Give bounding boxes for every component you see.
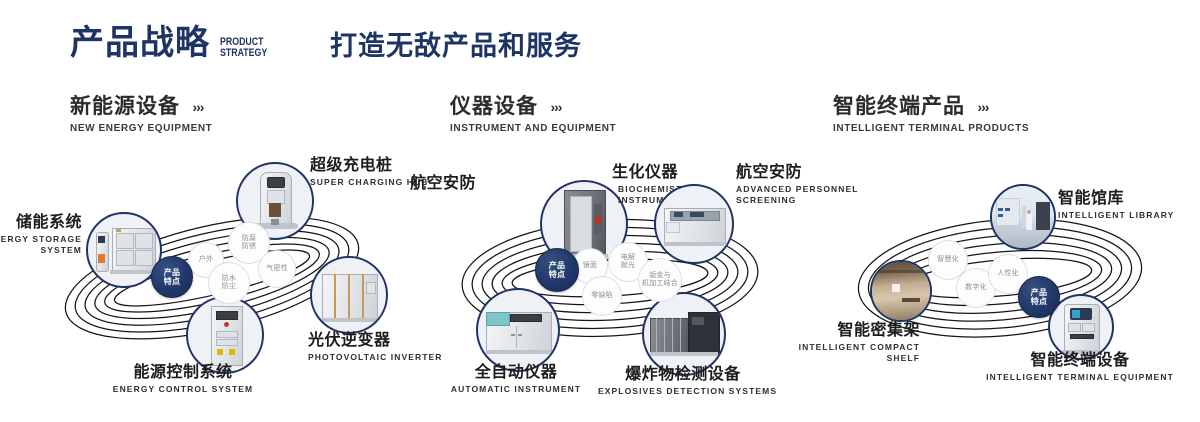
caption-cn-intelligent-library: 智能馆库 — [1058, 190, 1174, 207]
caption-intelligent-compact-shelf: 智能密集架 INTELLIGENT COMPACT SHELF — [742, 322, 920, 364]
diagram-cluster-new-energy: 超级充电桩 SUPER CHARGING HUB 储能系统 ENERGY STO… — [0, 150, 420, 400]
node-intelligent-compact-shelf[interactable] — [870, 260, 932, 322]
masthead: 产品战略 PRODUCT STRATEGY — [70, 26, 279, 60]
section-title-en-instrument: INSTRUMENT AND EQUIPMENT — [450, 123, 616, 134]
intelligent-terminal-equipment-image — [1050, 296, 1112, 358]
diagram-cluster-intelligent-terminal: 智能馆库 INTELLIGENT LIBRARY 智能密集架 INTELLIGE… — [800, 150, 1200, 400]
caption-en-automatic-instrument: AUTOMATIC INSTRUMENT — [436, 384, 596, 395]
feature-label-outdoor: 户外 — [199, 256, 213, 265]
feature-label-intelligentization: 智慧化 — [937, 256, 959, 265]
automatic-instrument-image — [478, 290, 558, 370]
badge-product-features-instrument: 产品 特点 — [535, 248, 579, 292]
caption-en-energy-storage-system-line1: ENERGY STORAGE — [0, 234, 82, 245]
chevron-right-icon-new-energy: ››› — [192, 99, 203, 115]
feature-label-electropolishing-line1: 电解 — [621, 254, 635, 263]
advanced-personnel-screening-image — [656, 186, 732, 262]
section-title-en-intelligent-terminal: INTELLIGENT TERMINAL PRODUCTS — [833, 123, 1029, 134]
caption-cn-explosives-detection-systems: 爆炸物检测设备 — [598, 366, 768, 383]
masthead-title-en: PRODUCT STRATEGY — [220, 37, 267, 59]
poster-canvas: 产品战略 PRODUCT STRATEGY 打造无敌产品和服务 新能源设备 ››… — [0, 0, 1200, 422]
photovoltaic-inverter-image — [312, 258, 386, 332]
caption-cn-biochemistry-instrument: 生化仪器 — [612, 164, 696, 181]
caption-intelligent-library: 智能馆库 INTELLIGENT LIBRARY — [1058, 190, 1174, 221]
feature-label-sheetmetal-machining-line1: 钣金与 — [649, 272, 671, 281]
chevron-right-icon-instrument: ››› — [550, 99, 561, 115]
caption-explosives-detection-systems: 爆炸物检测设备 EXPLOSIVES DETECTION SYSTEMS — [598, 366, 768, 397]
section-header-instrument: 仪器设备 ››› INSTRUMENT AND EQUIPMENT — [450, 96, 616, 134]
section-header-intelligent-terminal: 智能终端产品 ››› INTELLIGENT TERMINAL PRODUCTS — [833, 96, 1029, 134]
energy-storage-system-image — [88, 214, 160, 286]
chevron-right-icon-intelligent-terminal: ››› — [977, 99, 988, 115]
feature-bubble-waterproof: 防水 防尘 — [208, 262, 250, 304]
node-intelligent-library[interactable] — [990, 184, 1056, 250]
badge-line1-new-energy: 产品 — [164, 268, 181, 278]
node-photovoltaic-inverter[interactable] — [310, 256, 388, 334]
intelligent-compact-shelf-image — [872, 262, 930, 320]
node-advanced-personnel-screening[interactable] — [654, 184, 734, 264]
feature-label-humanization: 人性化 — [997, 270, 1019, 279]
caption-cn-energy-storage-system: 储能系统 — [0, 214, 82, 231]
feature-label-airtightness: 气密性 — [266, 265, 288, 274]
badge-product-features-new-energy: 产品 特点 — [151, 256, 193, 298]
section-header-new-energy: 新能源设备 ››› NEW ENERGY EQUIPMENT — [70, 96, 212, 134]
energy-control-system-image — [188, 298, 262, 372]
caption-en-intelligent-compact-shelf-line1: INTELLIGENT COMPACT — [742, 342, 920, 353]
caption-en-intelligent-library: INTELLIGENT LIBRARY — [1058, 210, 1174, 221]
caption-en-energy-storage-system-line2: SYSTEM — [0, 245, 82, 256]
badge-line2-new-energy: 特点 — [164, 277, 181, 287]
masthead-slogan: 打造无敌产品和服务 — [330, 33, 582, 60]
section-title-cn-new-energy: 新能源设备 — [70, 96, 180, 118]
node-energy-control-system[interactable] — [186, 296, 264, 374]
badge-line1-intelligent-terminal: 产品 — [1031, 288, 1048, 298]
caption-cn-energy-control-system: 能源控制系统 — [88, 364, 278, 381]
feature-label-mirror-finish: 镜面 — [583, 262, 597, 271]
feature-label-anticorrosion-line1: 防腐 — [242, 235, 256, 244]
feature-bubble-zero-defect: 零缺陷 — [582, 276, 622, 316]
caption-en-intelligent-terminal-equipment: INTELLIGENT TERMINAL EQUIPMENT — [986, 372, 1174, 383]
caption-cn-automatic-instrument: 全自动仪器 — [436, 364, 596, 381]
caption-cn-intelligent-terminal-equipment: 智能终端设备 — [986, 352, 1174, 369]
caption-automatic-instrument: 全自动仪器 AUTOMATIC INSTRUMENT — [436, 364, 596, 395]
feature-label-electropolishing-line2: 抛光 — [621, 262, 635, 271]
masthead-title-en-line2: STRATEGY — [220, 48, 267, 59]
caption-energy-control-system: 能源控制系统 ENERGY CONTROL SYSTEM — [88, 364, 278, 395]
node-explosives-detection-systems[interactable] — [642, 292, 726, 376]
feature-label-waterproof-line2: 防尘 — [222, 283, 236, 292]
caption-cn-intelligent-compact-shelf: 智能密集架 — [742, 322, 920, 339]
badge-product-features-intelligent-terminal: 产品 特点 — [1018, 276, 1060, 318]
caption-energy-storage-system: 储能系统 ENERGY STORAGE SYSTEM — [0, 214, 82, 256]
section-title-cn-intelligent-terminal: 智能终端产品 — [833, 96, 965, 118]
caption-en-intelligent-compact-shelf-line2: SHELF — [742, 353, 920, 364]
badge-line2-instrument: 特点 — [549, 270, 566, 280]
caption-intelligent-terminal-equipment: 智能终端设备 INTELLIGENT TERMINAL EQUIPMENT — [986, 352, 1174, 383]
feature-bubble-sheetmetal-machining: 钣金与 机加工结合 — [638, 258, 682, 302]
feature-bubble-airtightness: 气密性 — [258, 250, 296, 288]
feature-label-sheetmetal-machining-line2: 机加工结合 — [642, 280, 678, 289]
caption-cn-aviation-security-side: 航空安防 — [410, 175, 476, 192]
section-title-cn-instrument: 仪器设备 — [450, 96, 538, 118]
explosives-detection-systems-image — [644, 294, 724, 374]
caption-aviation-security-side: 航空安防 — [410, 175, 476, 192]
caption-en-explosives-detection-systems: EXPLOSIVES DETECTION SYSTEMS — [598, 386, 768, 397]
node-automatic-instrument[interactable] — [476, 288, 560, 372]
feature-label-anticorrosion-line2: 防锈 — [242, 243, 256, 252]
badge-line2-intelligent-terminal: 特点 — [1031, 297, 1048, 307]
feature-label-waterproof-line1: 防水 — [222, 275, 236, 284]
feature-label-zero-defect: 零缺陷 — [591, 292, 613, 301]
section-title-en-new-energy: NEW ENERGY EQUIPMENT — [70, 123, 212, 134]
intelligent-library-image — [992, 186, 1054, 248]
badge-line1-instrument: 产品 — [549, 261, 566, 271]
feature-label-digitalization: 数字化 — [965, 284, 987, 293]
caption-en-energy-control-system: ENERGY CONTROL SYSTEM — [88, 384, 278, 395]
masthead-title-cn: 产品战略 — [70, 26, 210, 60]
